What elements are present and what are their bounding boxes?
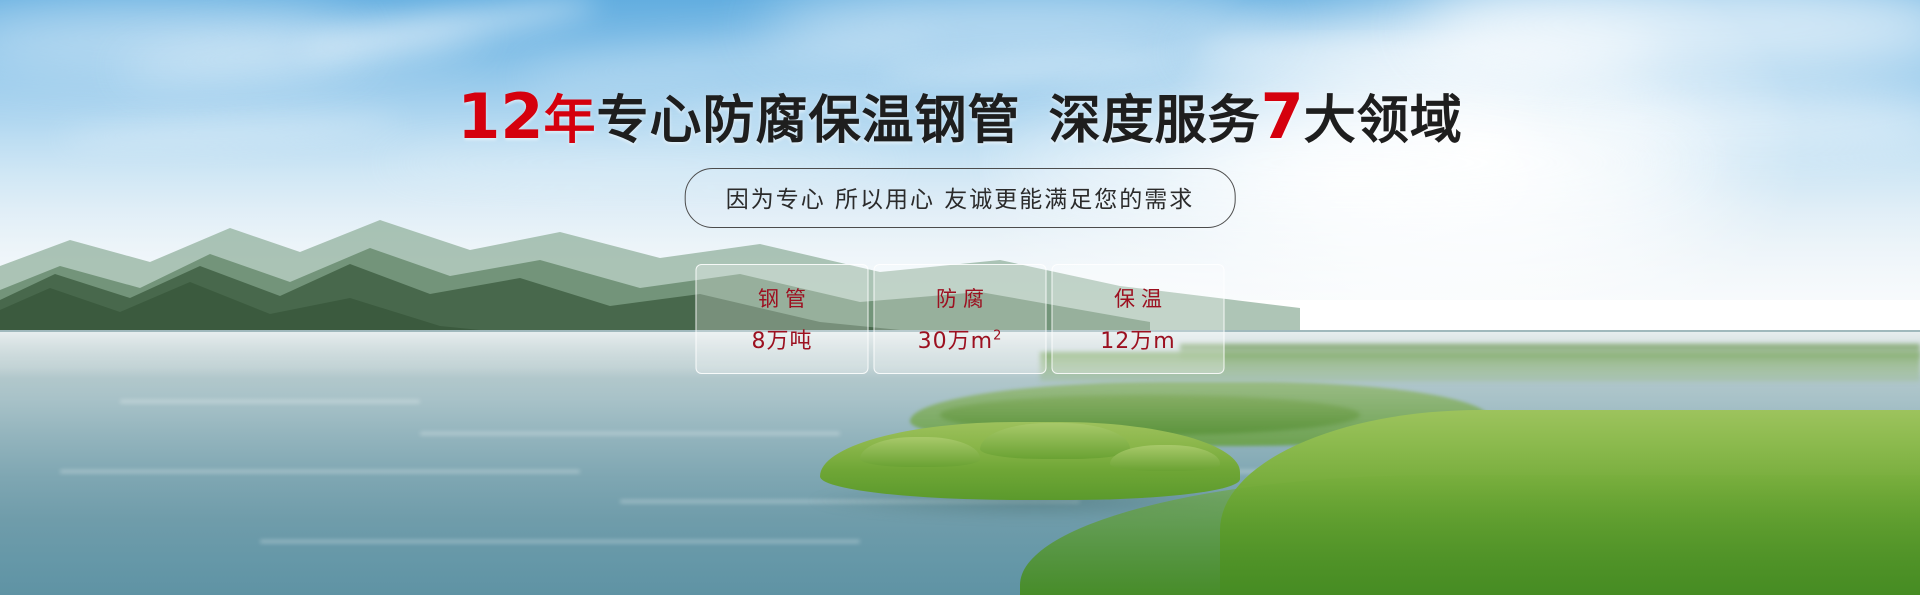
headline-main-text: 专心防腐保温钢管 [597, 91, 1021, 151]
stat-value: 8万吨 [752, 323, 813, 355]
stat-value: 12万m [1100, 323, 1175, 355]
stat-label: 防腐 [930, 283, 990, 313]
stat-card-insulation[interactable]: 保温 12万m [1052, 264, 1225, 374]
stat-label: 保温 [1108, 283, 1168, 313]
banner-headline: 12年专心防腐保温钢管深度服务7大领域 [0, 86, 1920, 152]
headline-fields-number: 7 [1261, 80, 1304, 153]
banner-subtitle-text: 因为专心 所以用心 友诚更能满足您的需求 [726, 187, 1195, 213]
headline-service-prefix: 深度服务 [1049, 91, 1261, 151]
stat-label: 钢管 [752, 283, 812, 313]
stat-value: 30万m2 [918, 323, 1003, 355]
stat-card-anticorrosion[interactable]: 防腐 30万m2 [874, 264, 1047, 374]
headline-years-number: 12 [457, 80, 543, 153]
promo-banner: 12年专心防腐保温钢管深度服务7大领域 因为专心 所以用心 友诚更能满足您的需求… [0, 0, 1920, 595]
headline-years-unit: 年 [544, 91, 597, 151]
banner-subtitle-pill: 因为专心 所以用心 友诚更能满足您的需求 [685, 168, 1236, 228]
stat-cards: 钢管 8万吨 防腐 30万m2 保温 12万m [696, 264, 1225, 374]
stat-value-superscript: 2 [993, 329, 1002, 344]
headline-service-suffix: 大领域 [1304, 91, 1463, 151]
banner-content: 12年专心防腐保温钢管深度服务7大领域 因为专心 所以用心 友诚更能满足您的需求… [0, 0, 1920, 595]
stat-card-steel-pipe[interactable]: 钢管 8万吨 [696, 264, 869, 374]
